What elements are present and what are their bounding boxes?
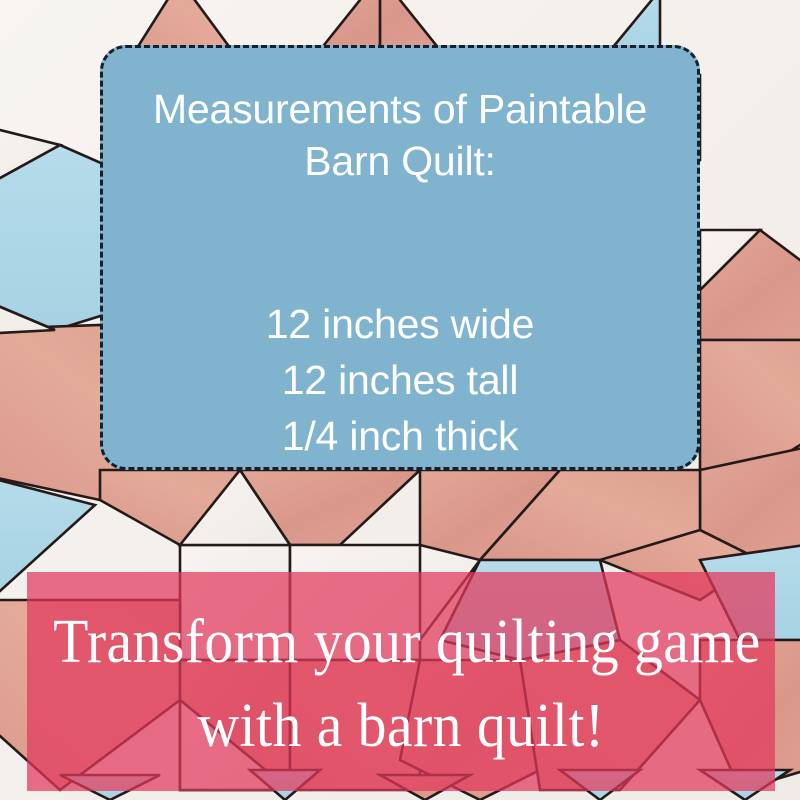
spec-height: 12 inches tall bbox=[117, 352, 683, 408]
measurements-heading-line-2: Barn Quilt: bbox=[117, 135, 683, 187]
measurements-spec-list: 12 inches wide 12 inches tall 1/4 inch t… bbox=[117, 296, 683, 464]
spec-width: 12 inches wide bbox=[117, 296, 683, 352]
measurements-heading: Measurements of Paintable Barn Quilt: bbox=[117, 83, 683, 187]
measurements-heading-line-1: Measurements of Paintable bbox=[117, 83, 683, 135]
promo-line-1: Transform your quilting game bbox=[53, 600, 749, 684]
promo-line-2: with a barn quilt! bbox=[53, 684, 749, 768]
promo-graphic: Measurements of Paintable Barn Quilt: 12… bbox=[0, 0, 800, 800]
promo-banner: Transform your quilting game with a barn… bbox=[27, 572, 775, 791]
promo-banner-text: Transform your quilting game with a barn… bbox=[27, 600, 775, 768]
spec-thickness: 1/4 inch thick bbox=[117, 408, 683, 464]
measurements-card: Measurements of Paintable Barn Quilt: 12… bbox=[100, 45, 700, 470]
